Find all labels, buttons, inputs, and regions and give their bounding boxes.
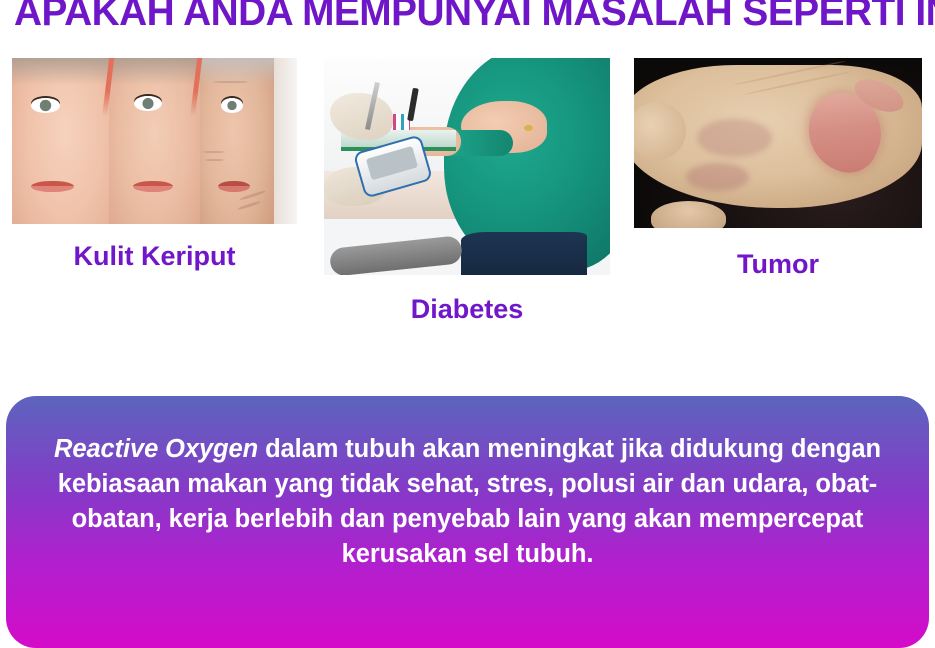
discoloration-patch xyxy=(697,119,772,156)
statement-emphasis: Reactive Oxygen xyxy=(54,435,258,463)
diabetes-blood-glucose-test-photo xyxy=(324,58,610,275)
problem-label-diabetes: Diabetes xyxy=(324,293,610,325)
eye-icon xyxy=(134,96,161,111)
statement-banner: Reactive Oxygen dalam tubuh akan meningk… xyxy=(6,396,929,648)
discoloration-patch xyxy=(686,163,749,190)
face-young xyxy=(12,58,109,224)
face-elderly xyxy=(200,58,274,224)
face-middle-aged xyxy=(109,58,200,224)
background-fill xyxy=(274,58,297,224)
wrinkled-skin-aging-faces-photo xyxy=(12,58,297,224)
wrinkle-line xyxy=(203,151,225,153)
problem-card-tumor: Tumor xyxy=(634,58,922,280)
photo-background xyxy=(274,58,297,224)
chair-armrest xyxy=(329,236,463,275)
problem-label-tumor: Tumor xyxy=(634,248,922,280)
jeans xyxy=(461,232,587,275)
eye-icon xyxy=(31,98,60,113)
problem-card-wrinkled-skin: Kulit Keriput xyxy=(12,58,297,272)
problem-label-wrinkled-skin: Kulit Keriput xyxy=(12,240,297,272)
glucometer-screen xyxy=(366,146,418,180)
problem-card-diabetes: Diabetes xyxy=(324,58,610,325)
eye-icon xyxy=(221,98,243,113)
statement-text: Reactive Oxygen dalam tubuh akan meningk… xyxy=(42,432,893,572)
tumor-on-hand-photo xyxy=(634,58,922,228)
hairline xyxy=(109,58,200,85)
hairline xyxy=(12,58,109,85)
page-title: APAKAH ANDA MEMPUNYAI MASALAH SEPERTI IN… xyxy=(14,0,921,35)
